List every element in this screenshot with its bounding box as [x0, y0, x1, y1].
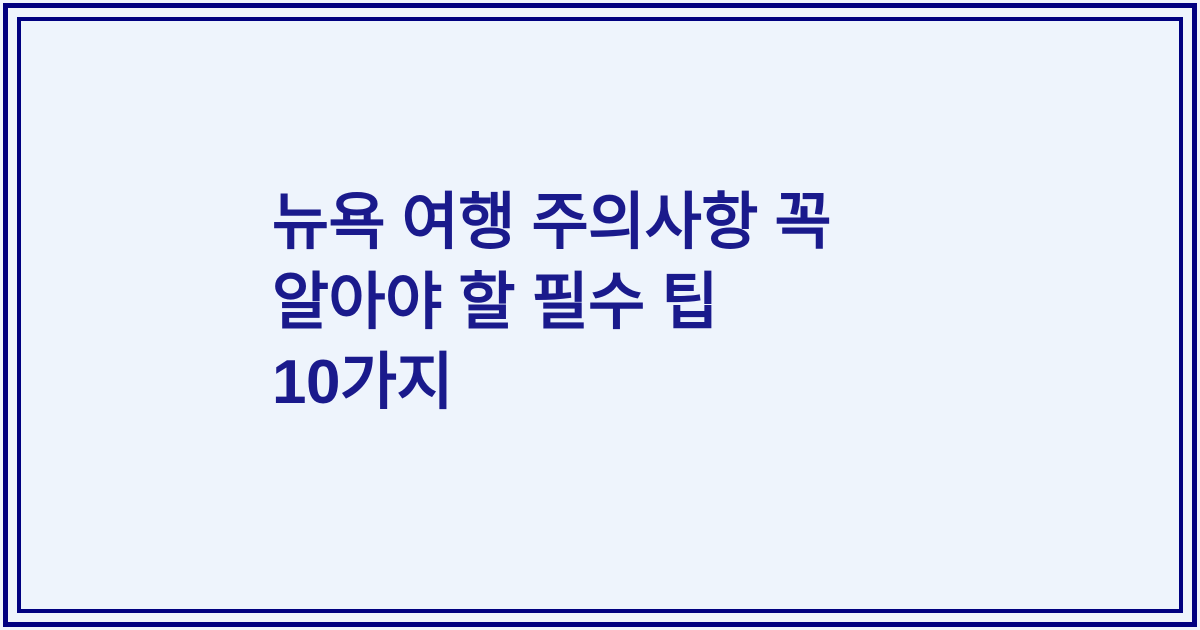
- title-line-1: 뉴욕 여행 주의사항 꼭: [272, 183, 1032, 263]
- title-line-3: 10가지: [272, 343, 1032, 423]
- page-title: 뉴욕 여행 주의사항 꼭 알아야 할 필수 팁 10가지: [272, 183, 1032, 423]
- title-line-2: 알아야 할 필수 팁: [272, 263, 1032, 343]
- thumbnail-card: 뉴욕 여행 주의사항 꼭 알아야 할 필수 팁 10가지: [0, 0, 1200, 630]
